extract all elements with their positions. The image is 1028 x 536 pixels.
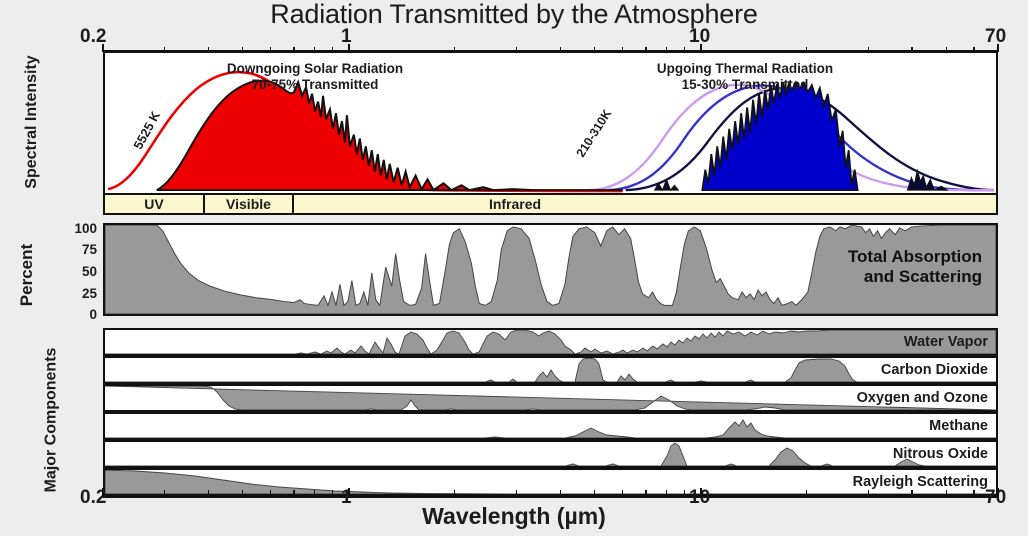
percent-tick-labels: 100 75 50 25 0 (45, 222, 97, 312)
axis-tick (946, 490, 948, 496)
transmitted-solar-area (157, 81, 623, 190)
nitrous-oxide-plot (105, 442, 996, 466)
band-uv: UV (105, 195, 205, 213)
x-tick-top-3: 70 (985, 26, 1006, 48)
chart-title: Radiation Transmitted by the Atmosphere (0, 0, 1028, 30)
absorption-caption: Total Absorption and Scattering (848, 247, 982, 288)
curve-label-210-310k: 210-310K (573, 107, 614, 160)
axis-tick (594, 490, 596, 496)
component-label-carbon-dioxide: Carbon Dioxide (881, 362, 988, 378)
axis-tick (102, 488, 104, 497)
carbon-dioxide-area (105, 358, 996, 382)
band-visible: Visible (205, 195, 294, 213)
percent-tick-25: 25 (82, 287, 97, 301)
axis-tick (164, 490, 166, 496)
curve-label-5525k: 5525 K (130, 108, 163, 152)
x-axis-label: Wavelength (µm) (0, 503, 1028, 530)
thermal-annotation: Upgoing Thermal Radiation 15-30% Transmi… (595, 61, 895, 93)
axis-tick (666, 490, 668, 496)
methane-plot (105, 414, 996, 438)
panel-top-ylabel: Spectral Intensity (23, 52, 41, 192)
methane-area (105, 420, 996, 438)
band-uv-label: UV (144, 196, 163, 212)
percent-tick-100: 100 (74, 222, 97, 236)
percent-tick-0: 0 (89, 308, 97, 322)
percent-tick-75: 75 (82, 243, 97, 257)
component-row-nitrous-oxide: Nitrous Oxide (103, 440, 998, 468)
component-row-water-vapor: Water Vapor (103, 328, 998, 356)
panel-bottom-ylabel: Major Components (43, 333, 61, 508)
axis-tick (270, 490, 272, 496)
axis-tick (806, 490, 808, 496)
water-vapor-plot (105, 330, 996, 354)
axis-tick (700, 488, 702, 497)
percent-tick-50: 50 (82, 265, 97, 279)
axis-tick (332, 490, 334, 496)
axis-tick (997, 488, 999, 497)
band-infrared-label: Infrared (489, 196, 541, 212)
thermal-annotation-line1: Upgoing Thermal Radiation (595, 61, 895, 77)
solar-annotation: Downgoing Solar Radiation 70-75% Transmi… (165, 61, 465, 93)
axis-tick (293, 490, 295, 496)
component-label-water-vapor: Water Vapor (904, 334, 988, 350)
component-row-carbon-dioxide: Carbon Dioxide (103, 356, 998, 384)
axis-tick (911, 490, 913, 496)
component-label-nitrous-oxide: Nitrous Oxide (893, 446, 988, 462)
axis-tick (622, 490, 624, 496)
component-row-methane: Methane (103, 412, 998, 440)
axis-tick (560, 490, 562, 496)
panel-middle-ylabel: Percent (17, 230, 37, 320)
axis-tick (208, 490, 210, 496)
spectral-intensity-panel: 5525 K 210-310K Downgoing Solar Radiatio… (103, 51, 998, 195)
band-visible-label: Visible (226, 196, 271, 212)
solar-annotation-line2: 70-75% Transmitted (165, 77, 465, 93)
water-vapor-area (105, 330, 996, 354)
axis-tick (516, 490, 518, 496)
absorption-caption-line1: Total Absorption (848, 247, 982, 267)
nitrous-oxide-area (105, 443, 996, 466)
axis-tick (868, 490, 870, 496)
axis-tick (454, 490, 456, 496)
component-label-oxygen-ozone: Oxygen and Ozone (857, 390, 988, 406)
component-row-oxygen-ozone: Oxygen and Ozone (103, 384, 998, 412)
thermal-annotation-line2: 15-30% Transmitted (595, 77, 895, 93)
axis-tick (314, 490, 316, 496)
solar-annotation-line1: Downgoing Solar Radiation (165, 61, 465, 77)
radiation-transmission-figure: Radiation Transmitted by the Atmosphere … (0, 0, 1028, 536)
x-tick-top-1: 1 (341, 26, 352, 48)
bottom-axis-line (103, 496, 998, 498)
spectral-band-strip: UV Visible Infrared (103, 193, 998, 215)
axis-tick (684, 490, 686, 496)
transmitted-thermal-area (702, 82, 857, 190)
band-infrared: Infrared (294, 195, 996, 213)
top-axis-line (103, 50, 998, 52)
axis-tick (348, 488, 350, 497)
axis-tick (973, 490, 975, 496)
axis-tick (242, 490, 244, 496)
component-row-rayleigh-scattering: Rayleigh Scattering (103, 468, 998, 496)
carbon-dioxide-plot (105, 358, 996, 382)
absorption-caption-line2: and Scattering (848, 267, 982, 287)
absorption-panel: Total Absorption and Scattering (103, 223, 998, 316)
component-label-rayleigh-scattering: Rayleigh Scattering (853, 474, 988, 490)
component-label-methane: Methane (929, 418, 988, 434)
axis-tick (645, 490, 647, 496)
